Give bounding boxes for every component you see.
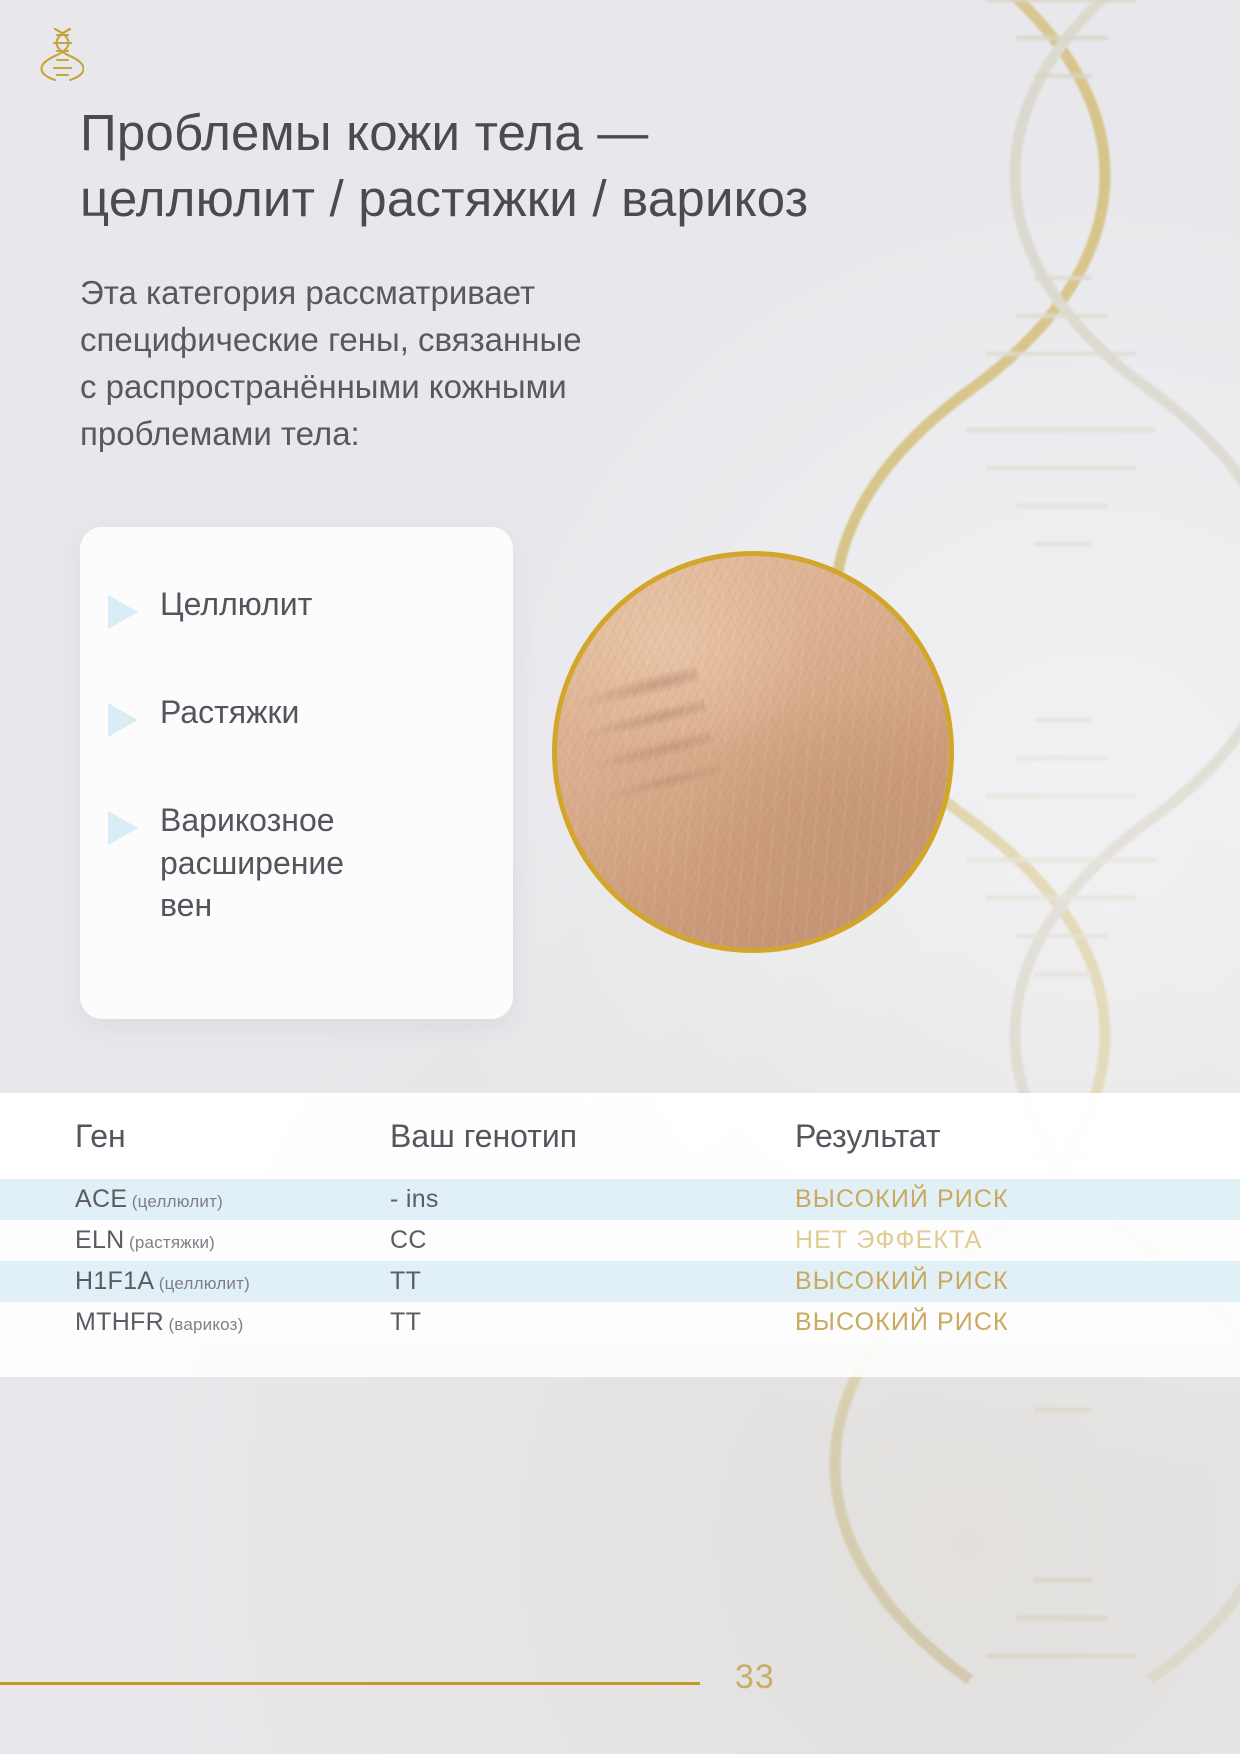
triangle-right-icon [108, 811, 138, 845]
table-row: H1F1A (целлюлит) TT ВЫСОКИЙ РИСК [0, 1261, 1240, 1302]
cell-genotype: TT [390, 1308, 795, 1337]
cell-result: ВЫСОКИЙ РИСК [795, 1267, 1195, 1296]
cell-result: ВЫСОКИЙ РИСК [795, 1185, 1195, 1214]
table-header-row: Ген Ваш генотип Результат [0, 1093, 1240, 1179]
cell-gene: MTHFR (варикоз) [75, 1308, 390, 1337]
gene-note: (целлюлит) [159, 1274, 250, 1293]
column-header-gene: Ген [75, 1118, 390, 1155]
page-footer: 33 [0, 1614, 1240, 1754]
table-row: MTHFR (варикоз) TT ВЫСОКИЙ РИСК [0, 1302, 1240, 1343]
triangle-right-icon [108, 595, 138, 629]
genotype-results-table: Ген Ваш генотип Результат ACE (целлюлит)… [0, 1093, 1240, 1377]
gene-note: (целлюлит) [132, 1192, 223, 1211]
page-number: 33 [735, 1658, 775, 1697]
cell-genotype: TT [390, 1267, 795, 1296]
list-item: Целлюлит [108, 583, 483, 629]
conditions-list-card: Целлюлит Растяжки Варикозное расширение … [80, 527, 513, 1019]
cell-gene: ELN (растяжки) [75, 1226, 390, 1255]
column-header-result: Результат [795, 1118, 1195, 1155]
cell-gene: H1F1A (целлюлит) [75, 1267, 390, 1296]
gene-note: (варикоз) [168, 1315, 243, 1334]
page-title: Проблемы кожи тела — целлюлит / растяжки… [80, 100, 980, 233]
gene-name: H1F1A [75, 1267, 154, 1295]
cell-gene: ACE (целлюлит) [75, 1185, 390, 1214]
cell-result: НЕТ ЭФФЕКТА [795, 1226, 1195, 1255]
gene-name: ACE [75, 1185, 127, 1213]
list-item: Растяжки [108, 691, 483, 737]
triangle-right-icon [108, 703, 138, 737]
slide-page: Проблемы кожи тела — целлюлит / растяжки… [0, 0, 1240, 1754]
list-item-label: Растяжки [160, 691, 299, 734]
gene-name: ELN [75, 1226, 125, 1254]
list-item: Варикозное расширение вен [108, 799, 483, 927]
skin-folds [552, 639, 733, 858]
column-header-genotype: Ваш генотип [390, 1118, 795, 1155]
gene-note: (растяжки) [129, 1233, 215, 1252]
footer-divider [0, 1682, 700, 1685]
intro-paragraph: Эта категория рассматривает специфически… [80, 270, 840, 457]
dna-helix-logo [40, 26, 84, 82]
list-item-label: Целлюлит [160, 583, 312, 626]
list-item-label: Варикозное расширение вен [160, 799, 344, 927]
skin-texture [557, 556, 949, 948]
cell-genotype: CC [390, 1226, 795, 1255]
table-row: ELN (растяжки) CC НЕТ ЭФФЕКТА [0, 1220, 1240, 1261]
table-row: ACE (целлюлит) - ins ВЫСОКИЙ РИСК [0, 1179, 1240, 1220]
cell-result: ВЫСОКИЙ РИСК [795, 1308, 1195, 1337]
cell-genotype: - ins [390, 1185, 795, 1214]
cellulite-skin-photo [552, 551, 954, 953]
gene-name: MTHFR [75, 1308, 164, 1336]
